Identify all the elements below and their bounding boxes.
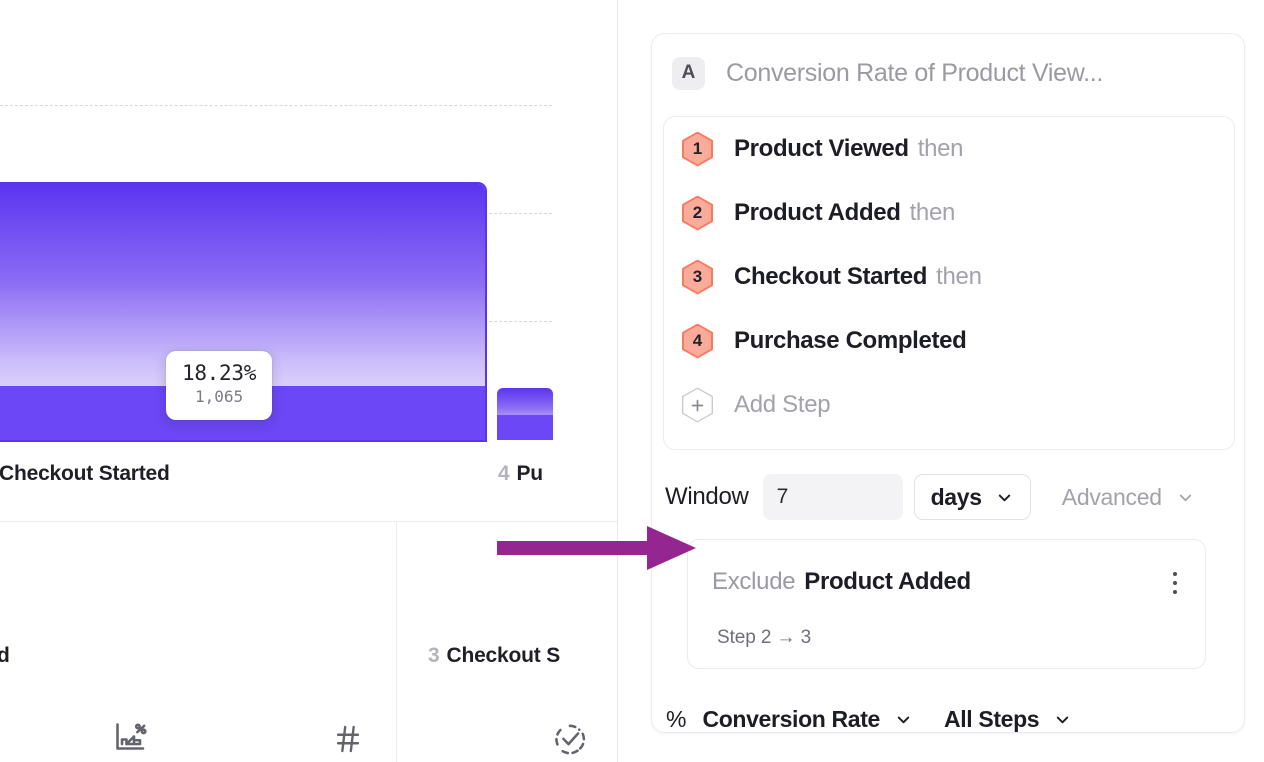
- x-axis-label-index: 4: [498, 462, 509, 485]
- chevron-down-icon: [894, 710, 913, 729]
- metric-dropdown[interactable]: Conversion Rate: [702, 706, 913, 733]
- metric-controls-row: % Conversion Rate All Steps: [666, 706, 1072, 733]
- tooltip-percent: 18.23%: [182, 361, 256, 385]
- window-label: Window: [665, 483, 749, 511]
- funnel-bar-purchase-completed[interactable]: [497, 388, 553, 440]
- plus-icon: [682, 388, 713, 423]
- chevron-down-icon: [1176, 488, 1195, 507]
- funnel-step-2[interactable]: 2 Product Added then: [682, 196, 955, 230]
- hash-icon[interactable]: [330, 722, 366, 761]
- steps-scope-dropdown[interactable]: All Steps: [944, 706, 1072, 733]
- app-root: 18.23% 1,065 Checkout Started 4Pu d 3Che…: [0, 0, 1264, 762]
- chevron-down-icon: [1053, 710, 1072, 729]
- step-number-badge: 3: [682, 260, 713, 295]
- query-letter-badge: A: [672, 57, 705, 90]
- legend-index: 3: [428, 644, 439, 667]
- chevron-down-icon: [995, 488, 1014, 507]
- exclusion-card[interactable]: Exclude Product Added Step 2 → 3: [687, 539, 1206, 669]
- x-axis-label-text: Checkout Started: [0, 462, 170, 485]
- main-vertical-divider: [617, 0, 618, 762]
- steps-scope-value: All Steps: [944, 706, 1039, 733]
- legend-label: Checkout S: [446, 644, 560, 667]
- query-builder-panel: A Conversion Rate of Product View... 1 P…: [651, 33, 1245, 733]
- step-event-name: Purchase Completed: [734, 327, 966, 355]
- window-value-input[interactable]: [763, 474, 903, 520]
- legend-label: d: [0, 644, 10, 667]
- bar-chart-percent-icon[interactable]: [111, 720, 151, 761]
- x-axis-label-checkout-started[interactable]: Checkout Started: [0, 462, 170, 486]
- check-circle-dashed-icon[interactable]: [551, 721, 589, 762]
- kebab-menu-icon[interactable]: [1163, 570, 1187, 596]
- step-event-name: Product Added: [734, 199, 901, 227]
- bar-solid-base: [497, 415, 553, 440]
- advanced-dropdown[interactable]: Advanced: [1062, 484, 1195, 511]
- pane-vertical-divider-lower: [396, 521, 397, 762]
- step-event-name: Checkout Started: [734, 263, 927, 291]
- query-header: A Conversion Rate of Product View...: [652, 34, 1246, 112]
- metric-value: Conversion Rate: [702, 706, 880, 733]
- step-connector: then: [918, 135, 964, 163]
- funnel-plot: 18.23% 1,065: [0, 0, 617, 440]
- step-number-badge: 2: [682, 196, 713, 231]
- percent-icon: %: [666, 706, 686, 733]
- x-axis-label-text: Pu: [516, 462, 542, 485]
- x-axis-label-purchase-completed[interactable]: 4Pu: [498, 462, 543, 486]
- step-connector: then: [910, 199, 956, 227]
- funnel-step-3[interactable]: 3 Checkout Started then: [682, 260, 982, 294]
- legend-item-checkout-started: 3Checkout S: [428, 644, 560, 668]
- funnel-step-4[interactable]: 4 Purchase Completed: [682, 324, 975, 358]
- exclusion-header: Exclude Product Added: [712, 568, 1187, 596]
- conversion-window-row: Window days Advanced: [665, 472, 1235, 522]
- gridline-top: [0, 105, 552, 106]
- step-number: 4: [693, 331, 702, 351]
- add-step-button[interactable]: Add Step: [682, 388, 830, 422]
- step-event-name: Product Viewed: [734, 135, 909, 163]
- funnel-step-1[interactable]: 1 Product Viewed then: [682, 132, 963, 166]
- step-number: 1: [693, 139, 702, 159]
- chart-tooltip: 18.23% 1,065: [166, 351, 272, 420]
- funnel-chart-pane: 18.23% 1,065 Checkout Started 4Pu d 3Che…: [0, 0, 617, 762]
- step-number-badge: 4: [682, 324, 713, 359]
- step-number: 3: [693, 267, 702, 287]
- step-number: 2: [693, 203, 702, 223]
- steps-card: 1 Product Viewed then 2 Product Added th…: [663, 116, 1235, 450]
- exclusion-event: Product Added: [804, 568, 971, 596]
- step-number-badge: 1: [682, 132, 713, 167]
- step-connector: then: [936, 263, 982, 291]
- exclusion-step-range: Step 2 → 3: [717, 627, 811, 649]
- advanced-label: Advanced: [1062, 484, 1162, 511]
- tooltip-count: 1,065: [182, 385, 256, 409]
- window-unit-dropdown[interactable]: days: [914, 474, 1031, 520]
- window-unit-value: days: [931, 484, 982, 511]
- legend-item-truncated: d: [0, 644, 10, 668]
- query-title[interactable]: Conversion Rate of Product View...: [726, 59, 1103, 88]
- exclusion-prefix: Exclude: [712, 568, 795, 596]
- add-step-label: Add Step: [734, 391, 830, 419]
- pane-horizontal-divider: [0, 521, 617, 522]
